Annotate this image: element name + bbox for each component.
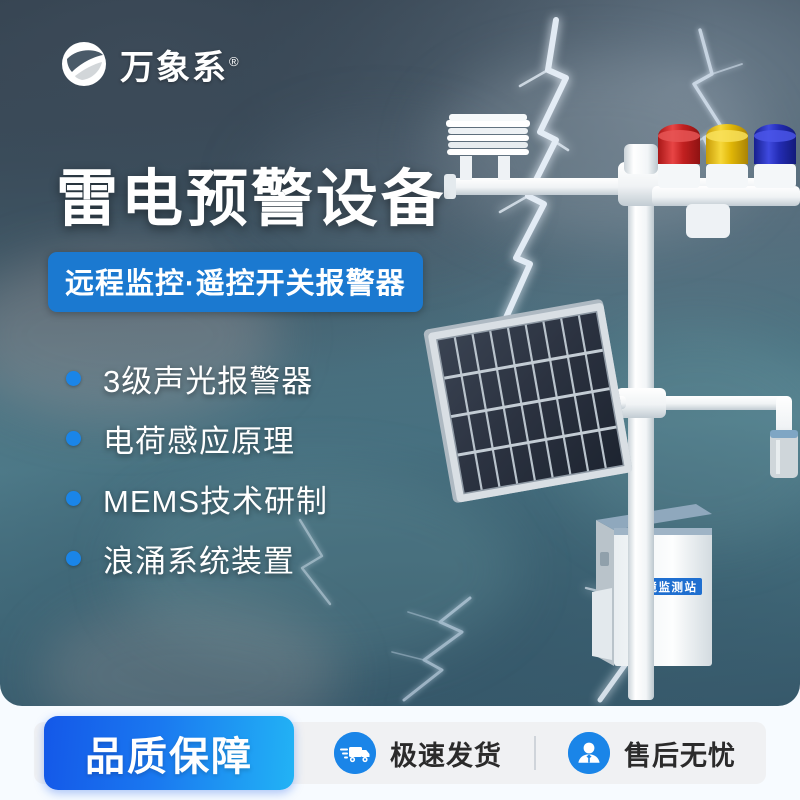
list-item: 电荷感应原理 [66,408,328,468]
feature-label: MEMS技术研制 [103,476,328,521]
hero-image-panel: 环境监测站 万象系® [0,0,800,706]
quality-badge-text: 品质保障 [85,724,253,782]
list-item: 3级声光报警器 [66,348,328,408]
bullet-dot-icon [66,491,81,506]
alarm-beacon-yellow [706,124,748,188]
bullet-dot-icon [66,431,81,446]
cloud-blotch [40,600,340,706]
feature-label: 3级声光报警器 [103,356,313,401]
registered-mark: ® [229,54,241,69]
list-item: 浪涌系统装置 [66,528,328,588]
trust-item-shipping: 极速发货 [334,732,502,774]
trust-item-aftersales: 售后无忧 [568,732,736,774]
lightning-sensor [770,430,798,478]
trust-divider [534,736,536,770]
product-illustration: 环境监测站 [400,100,800,706]
alarm-beacon-blue [754,124,796,188]
alarm-beacon-red [658,124,700,188]
feature-label: 浪涌系统装置 [103,536,295,581]
brand-name-text: 万象系 [120,49,228,87]
feature-list: 3级声光报警器 电荷感应原理 MEMS技术研制 浪涌系统装置 [66,348,328,588]
bullet-dot-icon [66,551,81,566]
quality-badge: 品质保障 [44,716,294,790]
list-item: MEMS技术研制 [66,468,328,528]
brand-name: 万象系® [120,40,241,89]
delivery-truck-icon [334,732,376,774]
support-agent-icon [568,732,610,774]
page-title: 雷电预警设备 [56,148,446,238]
bullet-dot-icon [66,371,81,386]
subtitle-badge: 远程监控·遥控开关报警器 [48,252,423,312]
trust-label-shipping: 极速发货 [390,734,502,773]
swoosh-circle-logo-icon [58,38,110,90]
solar-panel [423,299,633,504]
product-poster: 环境监测站 万象系® [0,0,800,800]
brand-logo: 万象系® [58,38,241,90]
trust-label-aftersales: 售后无忧 [624,734,736,773]
feature-label: 电荷感应原理 [103,416,295,461]
radiation-shield-sensor [446,114,530,180]
